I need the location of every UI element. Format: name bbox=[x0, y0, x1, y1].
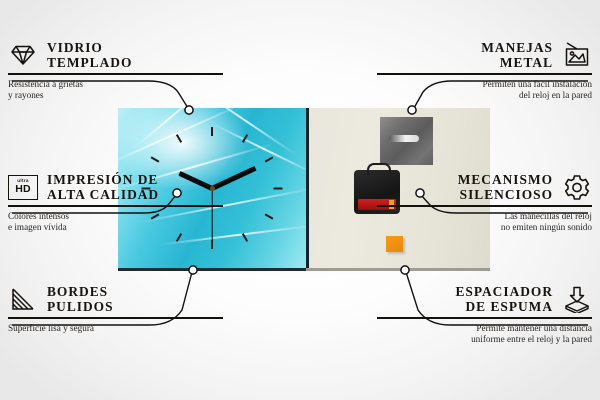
wall-frame-icon bbox=[562, 41, 592, 69]
feature-title: IMPRESIÓN DE ALTA CALIDAD bbox=[47, 172, 223, 202]
feature-divider bbox=[377, 73, 592, 75]
feature-title: VIDRIO TEMPLADO bbox=[47, 40, 223, 70]
feature-subtitle: Superficie lisa y segura bbox=[8, 323, 223, 334]
feature-header: MECANISMO SILENCIOSO bbox=[377, 172, 592, 202]
ultra-hd-main-label: HD bbox=[15, 184, 31, 195]
feature-manejas-metal: MANEJAS METAL Permiten una fácil instala… bbox=[377, 40, 592, 101]
feature-subtitle: Permite mantener una distancia uniforme … bbox=[377, 323, 592, 346]
feature-title: MANEJAS METAL bbox=[377, 40, 553, 70]
feature-mecanismo-silencioso: MECANISMO SILENCIOSO Las manecillas del … bbox=[377, 172, 592, 233]
gear-icon bbox=[562, 173, 592, 201]
feature-divider bbox=[8, 317, 223, 319]
feature-subtitle: Resistencia a grietas y rayones bbox=[8, 79, 223, 102]
feature-divider bbox=[8, 73, 223, 75]
feature-bordes-pulidos: BORDES PULIDOS Superficie lisa y segura bbox=[8, 284, 223, 334]
feature-divider bbox=[377, 317, 592, 319]
feature-header: VIDRIO TEMPLADO bbox=[8, 40, 223, 70]
ultra-hd-box: ultra HD bbox=[8, 175, 38, 200]
feature-divider bbox=[377, 205, 592, 207]
feature-header: ultra HD IMPRESIÓN DE ALTA CALIDAD bbox=[8, 172, 223, 202]
feature-title: MECANISMO SILENCIOSO bbox=[377, 172, 553, 202]
feature-vidrio-templado: VIDRIO TEMPLADO Resistencia a grietas y … bbox=[8, 40, 223, 101]
feature-divider bbox=[8, 205, 223, 207]
feature-subtitle: Colores intensos e imagen vívida bbox=[8, 211, 223, 234]
feature-impresion-alta-calidad: ultra HD IMPRESIÓN DE ALTA CALIDAD Color… bbox=[8, 172, 223, 233]
ultra-hd-icon: ultra HD bbox=[8, 173, 38, 201]
diamond-icon bbox=[8, 41, 38, 69]
feature-subtitle: Las manecillas del reloj no emiten ningú… bbox=[377, 211, 592, 234]
feature-header: BORDES PULIDOS bbox=[8, 284, 223, 314]
feature-header: ESPACIADOR DE ESPUMA bbox=[377, 284, 592, 314]
feature-header: MANEJAS METAL bbox=[377, 40, 592, 70]
infographic-canvas: VIDRIO TEMPLADO Resistencia a grietas y … bbox=[0, 0, 600, 400]
polished-edge-icon bbox=[8, 285, 38, 313]
foam-spacer-icon bbox=[562, 285, 592, 313]
feature-subtitle: Permiten una fácil instalación del reloj… bbox=[377, 79, 592, 102]
feature-title: ESPACIADOR DE ESPUMA bbox=[377, 284, 553, 314]
feature-espaciador-espuma: ESPACIADOR DE ESPUMA Permite mantener un… bbox=[377, 284, 592, 345]
feature-title: BORDES PULIDOS bbox=[47, 284, 223, 314]
